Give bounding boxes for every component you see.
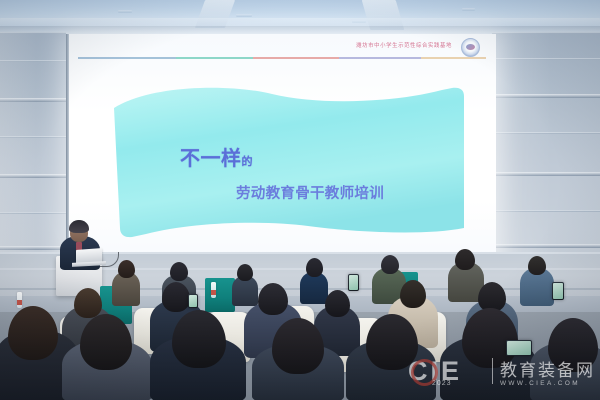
water-bottle (211, 282, 216, 298)
audience-head (170, 262, 188, 281)
audience-head (237, 264, 253, 281)
audience-head (548, 318, 598, 372)
rule-seg-blue (78, 57, 176, 59)
slide-subtitle: 劳动教育骨干教师培训 (236, 182, 384, 203)
audience-head (162, 282, 190, 312)
rule-seg-purple (339, 57, 421, 59)
rule-seg-red (253, 57, 339, 59)
institution-seal-logo (461, 38, 480, 57)
screen-frame-left (66, 34, 69, 272)
audience-head (74, 288, 102, 318)
smartphone-recording (188, 294, 198, 308)
presenter-hair (69, 220, 89, 233)
audience-head (366, 314, 418, 370)
audience-head (325, 290, 350, 317)
audience-head (462, 308, 518, 368)
rule-seg-orange (421, 57, 486, 59)
audience-head (455, 249, 475, 270)
photo-scene: 潍坊市中小学生示范性综合实践基地 不一样的 劳动教育骨干教师培训 (0, 0, 600, 400)
audience-head (272, 318, 324, 374)
audience-head (80, 314, 132, 370)
audience-head (306, 258, 323, 277)
draped-table-center (205, 278, 235, 312)
rule-seg-green (176, 57, 254, 59)
slide-title: 不一样的 (180, 142, 253, 171)
audience-head (381, 255, 399, 274)
audience-head (172, 310, 226, 368)
audience-head (118, 260, 135, 278)
water-bottle (17, 292, 22, 308)
slide-divider-rule (78, 57, 486, 59)
audience-head (400, 280, 426, 308)
smartphone-recording (552, 282, 564, 300)
smartphone-recording (506, 340, 532, 356)
projection-screen: 潍坊市中小学生示范性综合实践基地 不一样的 劳动教育骨干教师培训 (68, 34, 496, 272)
audience-head (528, 256, 546, 275)
slide-header-text: 潍坊市中小学生示范性综合实践基地 (356, 41, 452, 49)
right-wall (492, 32, 600, 280)
slide-title-suffix: 的 (242, 155, 254, 168)
teal-wave-banner (112, 86, 478, 238)
slide-title-main: 不一样 (180, 146, 242, 170)
smartphone-recording (348, 274, 359, 291)
audience-head (8, 306, 58, 360)
left-wall (0, 32, 66, 280)
audience-head (258, 283, 288, 315)
